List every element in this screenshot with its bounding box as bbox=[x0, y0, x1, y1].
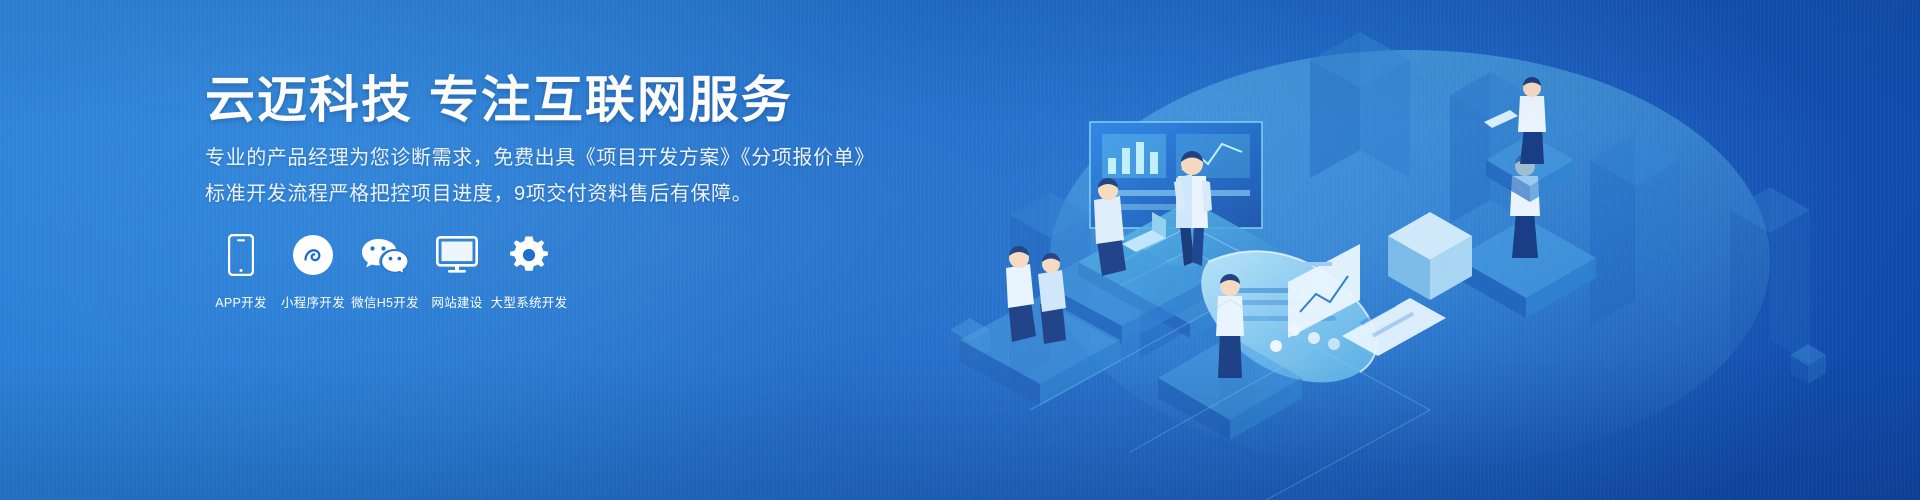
service-label-mini-program: 小程序开发 bbox=[281, 292, 345, 311]
service-icon-list: APP开发 小程序开发 bbox=[205, 232, 565, 311]
service-item-app[interactable]: APP开发 bbox=[205, 232, 277, 311]
mobile-phone-icon bbox=[228, 232, 254, 278]
subtitle-line-1: 专业的产品经理为您诊断需求，免费出具《项目开发方案》《分项报价单》 bbox=[205, 148, 965, 168]
gear-icon bbox=[508, 232, 550, 278]
hero-banner: 云迈科技 专注互联网服务 专业的产品经理为您诊断需求，免费出具《项目开发方案》《… bbox=[0, 0, 1920, 500]
service-item-large-system[interactable]: 大型系统开发 bbox=[493, 232, 565, 311]
service-label-large-system: 大型系统开发 bbox=[491, 292, 568, 311]
banner-content: 云迈科技 专注互联网服务 专业的产品经理为您诊断需求，免费出具《项目开发方案》《… bbox=[205, 0, 965, 500]
mini-program-icon bbox=[292, 232, 334, 278]
service-item-mini-program[interactable]: 小程序开发 bbox=[277, 232, 349, 311]
wechat-icon bbox=[361, 232, 409, 278]
illustration-isometric-tech-team bbox=[890, 0, 1920, 500]
service-label-app: APP开发 bbox=[215, 292, 267, 311]
service-label-wechat-h5: 微信H5开发 bbox=[351, 292, 419, 311]
service-label-website: 网站建设 bbox=[431, 292, 482, 311]
service-item-website[interactable]: 网站建设 bbox=[421, 232, 493, 311]
subtitle-line-2: 标准开发流程严格把控项目进度，9项交付资料售后有保障。 bbox=[205, 184, 965, 204]
page-title: 云迈科技 专注互联网服务 bbox=[205, 72, 793, 130]
monitor-icon bbox=[436, 232, 478, 278]
service-item-wechat-h5[interactable]: 微信H5开发 bbox=[349, 232, 421, 311]
